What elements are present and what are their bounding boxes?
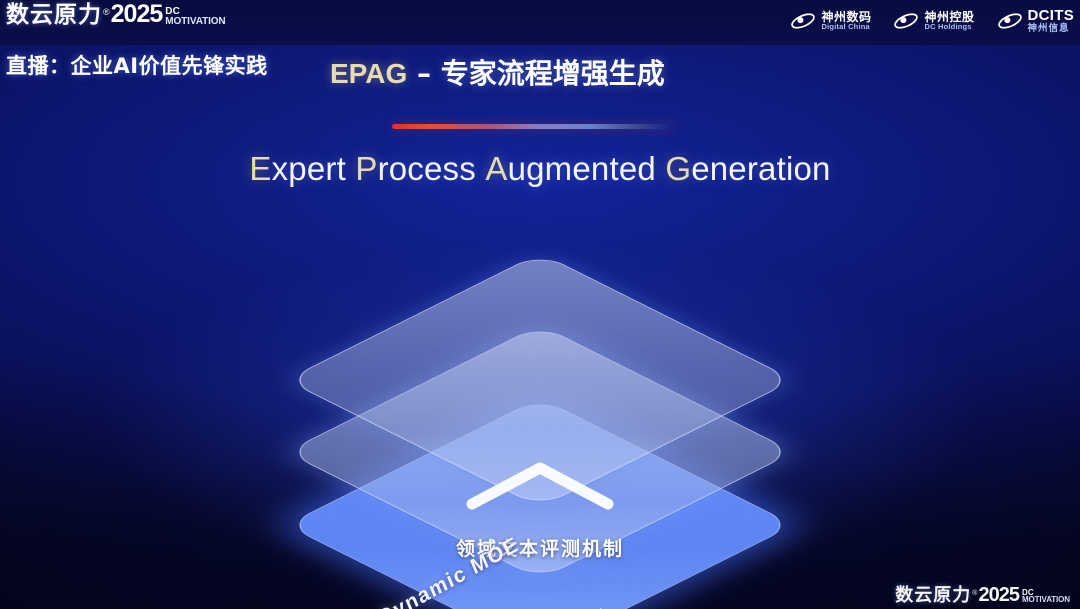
subtitle-word-expert: xpert — [272, 150, 346, 187]
partner-en: Digital China — [821, 23, 871, 31]
brand-logo-motivation: MOTIVATION — [165, 17, 225, 26]
subtitle-initial-a: A — [485, 150, 507, 187]
brand-watermark: 数云原力 ® 2025 DC MOTIVATION — [895, 585, 1070, 605]
subtitle-initial-g: G — [665, 150, 691, 187]
live-stream-title: 直播：企业AI价值先锋实践 — [6, 50, 268, 80]
title-divider — [392, 124, 674, 129]
partner-label-dcits: DCITS 神州信息 — [1028, 8, 1075, 34]
brand-logo-dc-motivation: DC MOTIVATION — [165, 7, 225, 26]
chevron-up-icon — [462, 458, 618, 512]
partner-logo-digital-china: 神州数码 Digital China — [790, 10, 871, 32]
partner-cn: 神州信息 — [1028, 24, 1075, 34]
layered-architecture-diagram: 领域文本评测机制 Dynamic MOE 长文本记忆 三类语义建模模块 — [270, 200, 810, 600]
slide-canvas: 数云原力 ® 2025 DC MOTIVATION 神州数码 Digital C… — [0, 0, 1080, 609]
brand-logo-registered: ® — [103, 8, 110, 17]
brand-logo-cn: 数云原力 — [6, 4, 102, 27]
partner-label-digital-china: 神州数码 Digital China — [821, 11, 871, 31]
subtitle-word-augmented: ugmented — [508, 150, 656, 187]
page-title: EPAG – 专家流程增强生成 — [330, 52, 665, 92]
partner-en: DCITS — [1028, 8, 1075, 24]
swirl-icon — [790, 10, 816, 32]
brand-logo: 数云原力 ® 2025 DC MOTIVATION — [6, 2, 226, 27]
page-subtitle: Expert Process Augmented Generation — [0, 150, 1080, 188]
swirl-icon — [997, 10, 1023, 32]
subtitle-word-process: rocess — [378, 150, 476, 187]
watermark-dc-motivation: DC MOTIVATION — [1022, 589, 1070, 604]
watermark-cn: 数云原力 — [895, 587, 971, 605]
partner-logo-dcits: DCITS 神州信息 — [997, 8, 1075, 34]
subtitle-initial-p: P — [355, 150, 377, 187]
partner-label-dc-holdings: 神州控股 DC Holdings — [924, 11, 974, 31]
watermark-motivation: MOTIVATION — [1022, 596, 1070, 604]
brand-logo-year: 2025 — [111, 2, 163, 27]
partner-logo-dc-holdings: 神州控股 DC Holdings — [893, 10, 974, 32]
watermark-year: 2025 — [978, 585, 1019, 605]
subtitle-word-generation: eneration — [691, 150, 830, 187]
top-banner: 数云原力 ® 2025 DC MOTIVATION 神州数码 Digital C… — [0, 0, 1080, 45]
watermark-registered: ® — [972, 590, 977, 597]
page-title-acronym: EPAG — [330, 58, 407, 89]
swirl-icon — [893, 10, 919, 32]
partner-en: DC Holdings — [924, 23, 974, 31]
page-title-chinese: – 专家流程增强生成 — [407, 57, 665, 90]
subtitle-initial-e: E — [249, 150, 271, 187]
partner-logo-group: 神州数码 Digital China 神州控股 DC Holdings — [790, 4, 1074, 38]
